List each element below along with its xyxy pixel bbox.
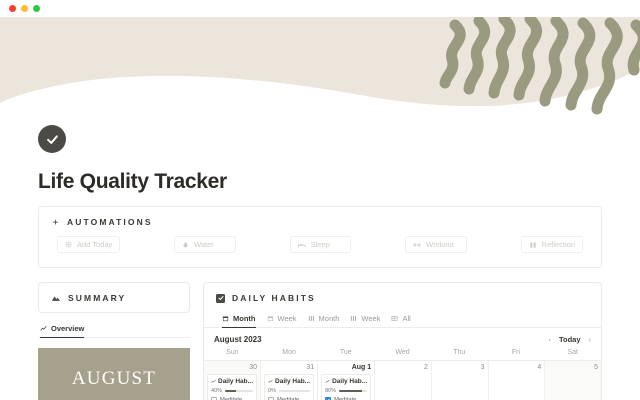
board-icon [350,315,357,322]
tab-label: Week [278,314,297,323]
check-circle-icon [45,132,60,147]
event-progress: 0% [268,388,310,394]
cover-image [0,17,640,115]
book-icon [529,241,537,249]
today-button[interactable]: Today [559,335,581,344]
automation-button-workout[interactable]: Workout [405,236,467,253]
calendar-month-label: August 2023 [214,335,262,344]
calendar-day-number: 5 [548,364,598,371]
progress-track [339,390,367,392]
sparkle-icon [51,218,60,227]
automations-header: AUTOMATIONS [39,207,601,236]
calendar-event-card[interactable]: Daily Hab...80%MeditateJournal [321,374,371,400]
automation-label: Water [194,240,214,249]
chart-icon [211,379,216,384]
daily-habits-column: DAILY HABITS Month [203,282,602,400]
automation-button-reflection[interactable]: Reflection [521,236,583,253]
calendar-cell[interactable]: 2 [375,361,432,400]
event-title-text: Daily Hab... [275,378,310,385]
summary-title: SUMMARY [68,293,126,303]
tab-overview[interactable]: Overview [40,324,84,338]
calendar-grid: 30Daily Hab...40%MeditateJournal31Daily … [204,360,601,400]
automation-button-water[interactable]: Water [174,236,236,253]
tab-label: Month [319,314,340,323]
event-progress: 40% [211,388,253,394]
checkbox-checked-icon [216,294,225,303]
calendar-day-number: 31 [264,364,314,371]
daily-habits-header: DAILY HABITS [204,283,601,312]
tab-month-board[interactable]: Month [308,314,340,328]
close-button[interactable] [9,5,16,12]
bed-icon [298,241,306,249]
tab-label: All [402,314,410,323]
event-title-text: Daily Hab... [218,378,253,385]
tab-month-calendar[interactable]: Month [222,314,256,328]
progress-label: 40% [211,388,222,394]
day-name: Thu [431,349,488,356]
day-name: Tue [317,349,374,356]
lower-columns: SUMMARY Overview AUGUST [38,282,602,400]
summary-column: SUMMARY Overview AUGUST [38,282,190,400]
progress-fill [339,390,361,392]
progress-label: 80% [325,388,336,394]
calendar-cell[interactable]: 30Daily Hab...40%MeditateJournal [204,361,261,400]
next-month-button[interactable]: › [589,335,592,344]
table-icon [391,315,398,322]
day-name: Sat [544,349,601,356]
automation-label: Add Today [77,240,112,249]
tab-label: Week [361,314,380,323]
event-title: Daily Hab... [211,378,253,385]
minimize-button[interactable] [21,5,28,12]
summary-panel: SUMMARY [38,282,190,313]
calendar-cell[interactable]: Aug 1Daily Hab...80%MeditateJournal [318,361,375,400]
calendar-event-card[interactable]: Daily Hab...0%MeditateJournal [264,374,314,400]
calendar-icon [267,315,274,322]
event-progress: 80% [325,388,367,394]
calendar-cell[interactable]: 4 [489,361,546,400]
tab-all-table[interactable]: All [391,314,410,328]
mountain-icon [51,293,61,303]
plus-circle-icon [65,241,72,248]
day-name: Wed [374,349,431,356]
event-title-text: Daily Hab... [332,378,367,385]
progress-track [279,390,310,392]
automation-button-add-today[interactable]: Add Today [57,236,120,253]
dumbbell-icon [413,241,421,249]
calendar-cell[interactable]: 3 [432,361,489,400]
page-icon[interactable] [38,125,66,153]
progress-fill [225,390,236,392]
cover-illustration [0,17,640,115]
daily-habits-title: DAILY HABITS [232,293,316,303]
automations-button-row: Add Today Water Sleep W [39,236,601,267]
calendar-day-number: 2 [378,364,428,371]
chart-icon [40,325,47,332]
tab-week-calendar[interactable]: Week [267,314,297,328]
calendar-icon [222,315,229,322]
progress-label: 0% [268,388,276,394]
daily-habits-panel: DAILY HABITS Month [203,282,602,400]
event-title: Daily Hab... [268,378,310,385]
window-titlebar [0,0,640,17]
page-title: Life Quality Tracker [38,170,602,194]
automation-label: Workout [426,240,454,249]
tab-label: Month [233,314,256,323]
automation-label: Sleep [311,240,330,249]
calendar-cell[interactable]: 31Daily Hab...0%MeditateJournal [261,361,318,400]
page-content: Life Quality Tracker AUTOMATIONS Add Tod… [0,125,640,400]
calendar-day-number: Aug 1 [321,364,371,371]
automations-panel: AUTOMATIONS Add Today Water [38,206,602,268]
board-icon [308,315,315,322]
check-mark-icon [218,295,224,301]
summary-header: SUMMARY [39,283,189,312]
calendar-cell[interactable]: 5 [545,361,601,400]
calendar-header: August 2023 ‹ Today › [204,328,601,349]
droplet-icon [182,241,189,248]
august-banner-text: AUGUST [72,368,156,390]
calendar-day-names: Sun Mon Tue Wed Thu Fri Sat [204,349,601,360]
chart-icon [268,379,273,384]
automation-button-sleep[interactable]: Sleep [290,236,352,253]
daily-habits-view-tabs: Month Week [204,312,601,328]
day-name: Fri [488,349,545,356]
progress-track [225,390,253,392]
automations-title: AUTOMATIONS [67,217,153,227]
calendar-event-card[interactable]: Daily Hab...40%MeditateJournal [207,374,257,400]
august-banner: AUGUST [38,348,190,400]
day-name: Mon [261,349,318,356]
summary-tabs: Overview [38,324,190,338]
calendar-nav: ‹ Today › [548,335,591,344]
calendar-day-number: 4 [492,364,542,371]
tab-week-board[interactable]: Week [350,314,380,328]
tab-label: Overview [51,324,84,333]
prev-month-button[interactable]: ‹ [548,335,551,344]
automation-label: Reflection [542,240,575,249]
zoom-button[interactable] [33,5,40,12]
day-name: Sun [204,349,261,356]
calendar-day-number: 3 [435,364,485,371]
event-title: Daily Hab... [325,378,367,385]
calendar-day-number: 30 [207,364,257,371]
chart-icon [325,379,330,384]
